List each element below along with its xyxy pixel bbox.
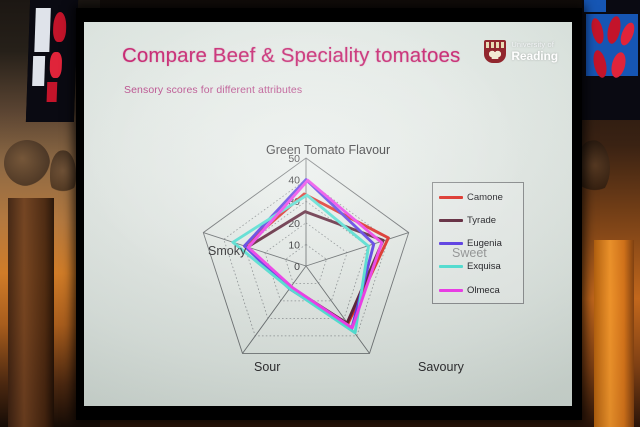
axis-label-green-tomato-flavour: Green Tomato Flavour (266, 144, 374, 157)
legend-item: Eugenia (439, 237, 517, 251)
radar-tick-label: 10 (288, 239, 300, 251)
shield-icon (484, 40, 506, 63)
projection-screen-surface: Compare Beef & Speciality tomatoes Senso… (84, 22, 572, 406)
axis-label-savoury: Savoury (418, 361, 464, 374)
radar-axis-spoke (243, 266, 307, 353)
stained-glass-window-left (26, 0, 78, 122)
radar-chart: 01020304050 Green Tomato Flavour Sweet S… (180, 118, 460, 388)
left-arch-shadow-2 (50, 150, 76, 196)
legend-item: Tyrade (439, 213, 517, 227)
legend-color-swatch (439, 219, 463, 222)
logo-wordmark: University of Reading (511, 41, 558, 62)
radar-tick-label: 0 (294, 261, 300, 273)
legend-color-swatch (439, 265, 463, 268)
stained-glass-window-right (582, 0, 640, 120)
legend-color-swatch (439, 289, 463, 292)
legend-item-label: Olmeca (467, 285, 500, 296)
legend-item: Camone (439, 190, 517, 204)
legend-item-label: Eugenia (467, 238, 502, 249)
university-of-reading-logo: University of Reading (484, 40, 558, 63)
chart-legend: CamoneTyradeEugeniaExquisaOlmeca (432, 182, 524, 304)
left-pillar (8, 198, 54, 427)
legend-item-label: Camone (467, 192, 503, 203)
legend-color-swatch (439, 242, 463, 245)
slide-subtitle: Sensory scores for different attributes (124, 84, 302, 96)
radar-tick-labels: 01020304050 (288, 153, 300, 273)
axis-label-sour: Sour (254, 361, 280, 374)
legend-color-swatch (439, 196, 463, 199)
axis-label-smoky: Smoky (208, 245, 246, 258)
right-pillar (594, 240, 634, 427)
presentation-slide: Compare Beef & Speciality tomatoes Senso… (84, 22, 572, 406)
left-arch-shadow (4, 140, 50, 186)
photo-scene: Compare Beef & Speciality tomatoes Senso… (0, 0, 640, 427)
legend-item-label: Tyrade (467, 215, 496, 226)
logo-line-1: University of (511, 41, 558, 49)
page-title: Compare Beef & Speciality tomatoes (122, 44, 460, 68)
legend-item: Exquisa (439, 260, 517, 274)
radar-tick-label: 40 (288, 175, 300, 187)
legend-item-label: Exquisa (467, 261, 501, 272)
logo-line-2: Reading (511, 50, 558, 62)
legend-item: Olmeca (439, 283, 517, 297)
